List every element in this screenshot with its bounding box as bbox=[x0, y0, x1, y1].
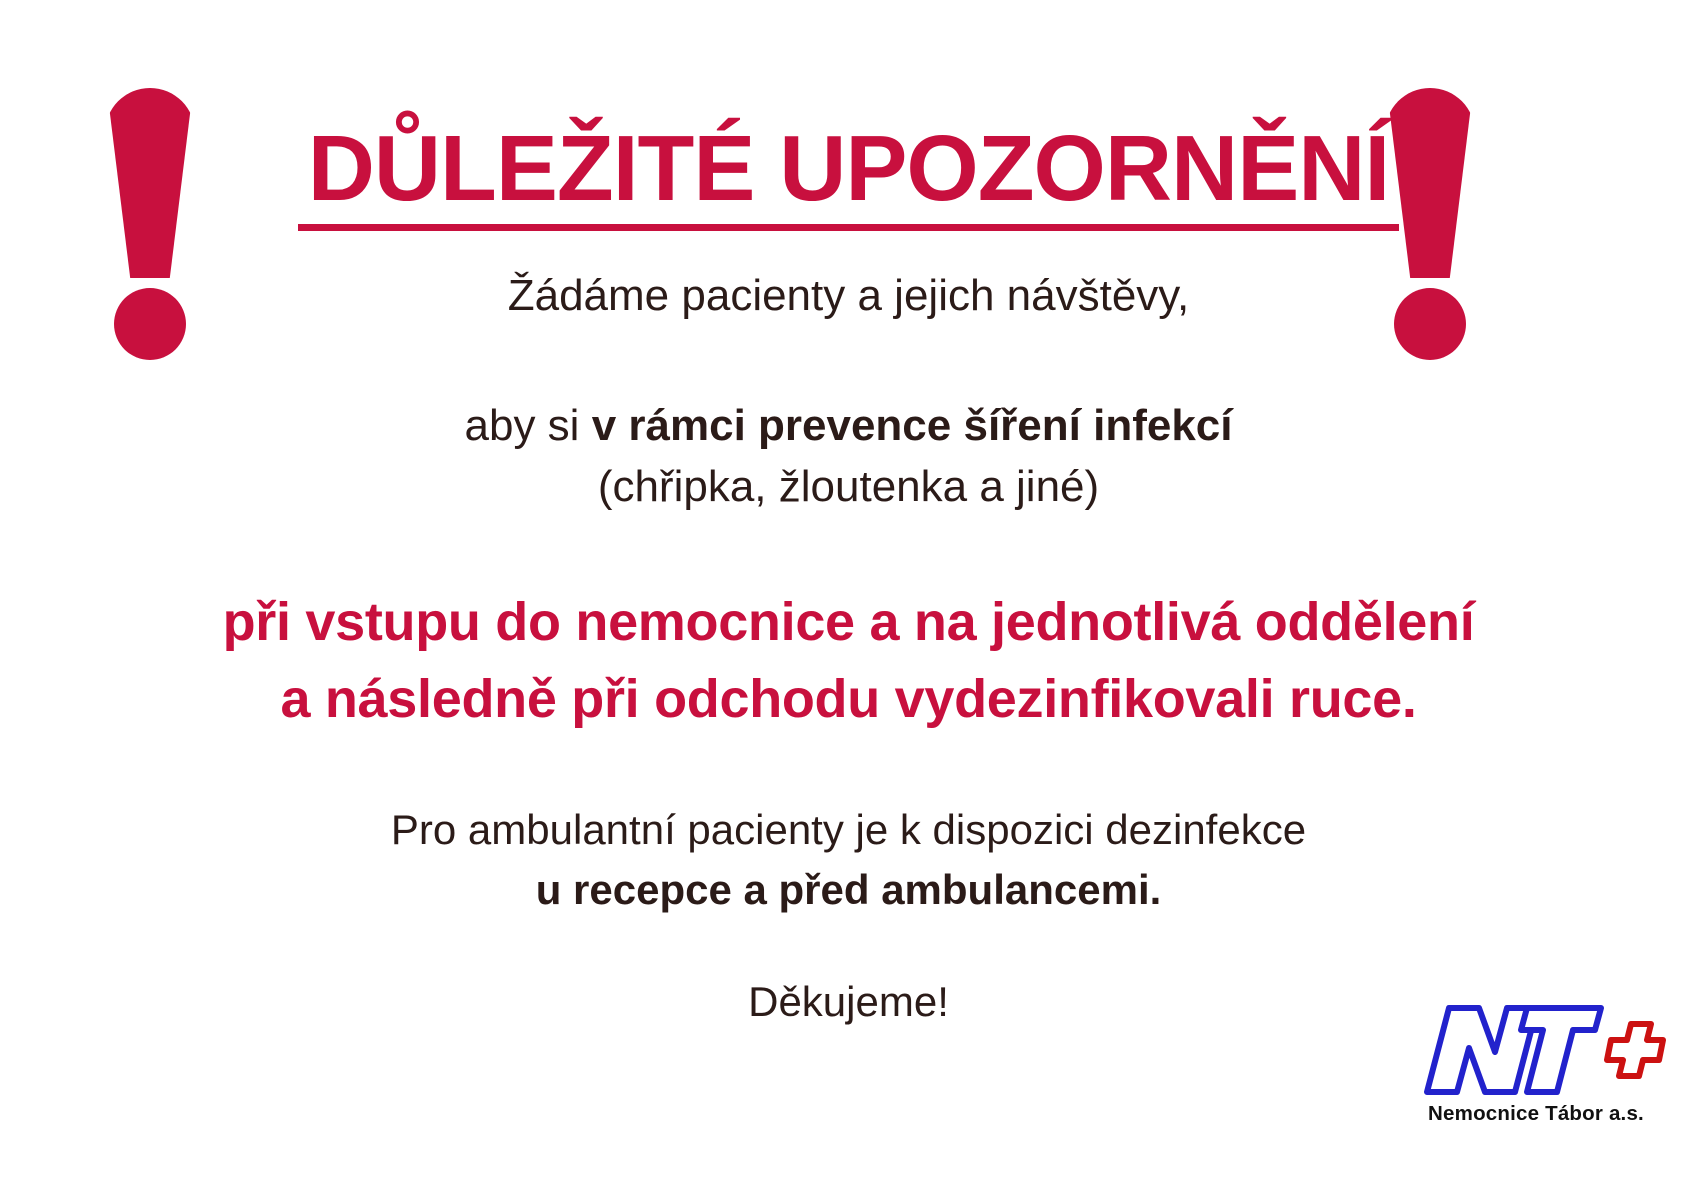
reason-lead: aby si bbox=[465, 401, 592, 450]
reason-emphasis: v rámci prevence šíření infekcí bbox=[592, 401, 1233, 450]
poster-canvas: DŮLEŽITÉ UPOZORNĚNÍ Žádáme pacienty a je… bbox=[0, 0, 1697, 1200]
highlight-line-1: při vstupu do nemocnice a na jednotlivá … bbox=[0, 584, 1697, 661]
hospital-logo: Nemocnice Tábor a.s. bbox=[1405, 1000, 1667, 1140]
info-paragraph: Pro ambulantní pacienty je k dispozici d… bbox=[0, 800, 1697, 919]
page-title: DŮLEŽITÉ UPOZORNĚNÍ bbox=[298, 120, 1400, 231]
intro-line: Žádáme pacienty a jejich návštěvy, bbox=[0, 268, 1697, 323]
reason-paragraph: aby si v rámci prevence šíření infekcí (… bbox=[0, 396, 1697, 517]
nt-plus-logo-icon bbox=[1405, 1000, 1667, 1100]
logo-mark bbox=[1405, 1000, 1667, 1100]
logo-caption: Nemocnice Tábor a.s. bbox=[1405, 1102, 1667, 1126]
reason-line-2: (chřipka, žloutenka a jiné) bbox=[0, 457, 1697, 518]
info-line-2: u recepce a před ambulancemi. bbox=[0, 860, 1697, 920]
title-container: DŮLEŽITÉ UPOZORNĚNÍ bbox=[0, 120, 1697, 231]
highlight-paragraph: při vstupu do nemocnice a na jednotlivá … bbox=[0, 584, 1697, 737]
reason-line-1: aby si v rámci prevence šíření infekcí bbox=[0, 396, 1697, 457]
info-line-1: Pro ambulantní pacienty je k dispozici d… bbox=[0, 800, 1697, 860]
highlight-line-2: a následně při odchodu vydezinfikovali r… bbox=[0, 661, 1697, 738]
intro-paragraph: Žádáme pacienty a jejich návštěvy, bbox=[0, 268, 1697, 323]
